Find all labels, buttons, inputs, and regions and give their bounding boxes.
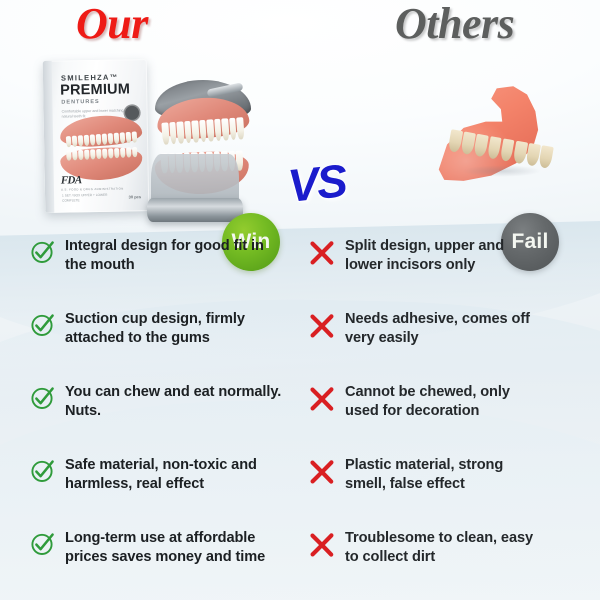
red-x-icon: [308, 240, 336, 266]
our-denture-model-image: [135, 72, 265, 222]
others-text: Plastic material, strong smell, false ef…: [345, 456, 545, 495]
red-x-icon: [308, 459, 336, 485]
box-title-label: PREMIUM: [60, 81, 130, 98]
others-text: Troublesome to clean, easy to collect di…: [345, 529, 545, 568]
others-cell: Plastic material, strong smell, false ef…: [300, 455, 600, 527]
others-cell: Split design, upper and lower incisors o…: [300, 236, 600, 308]
others-text: Split design, upper and lower incisors o…: [345, 237, 545, 276]
ours-text: Long-term use at affordable prices saves…: [65, 529, 287, 568]
box-spine: [43, 61, 55, 213]
fda-logo-icon: FDA: [61, 174, 82, 186]
heading-others: Others: [395, 0, 514, 49]
ours-cell: Suction cup design, firmly attached to t…: [0, 309, 300, 381]
check-circle-icon: [30, 239, 56, 265]
check-circle-icon: [30, 458, 56, 484]
others-text: Needs adhesive, comes off very easily: [345, 310, 545, 349]
comparison-row: You can chew and eat normally. Nuts. Can…: [0, 382, 600, 454]
others-cell: Cannot be chewed, only used for decorati…: [300, 382, 600, 454]
ours-cell: Integral design for good fit in the mout…: [0, 236, 300, 308]
versus-label: VS: [286, 157, 348, 209]
competitor-denture-image: [430, 60, 580, 200]
model-upper-teeth: [160, 117, 245, 145]
comparison-row: Integral design for good fit in the mout…: [0, 236, 600, 308]
others-text: Cannot be chewed, only used for decorati…: [345, 383, 545, 422]
ours-text: You can chew and eat normally. Nuts.: [65, 383, 287, 422]
red-x-icon: [308, 386, 336, 412]
product-box-image: SMILEHZA™ PREMIUM DENTURES Comfortable u…: [43, 59, 150, 213]
competitor-shadow: [446, 164, 558, 178]
comparison-infographic: Our Others SMILEHZA™ PREMIUM DENTURES Co…: [0, 0, 600, 600]
others-cell: Troublesome to clean, easy to collect di…: [300, 528, 600, 600]
ours-text: Integral design for good fit in the mout…: [65, 237, 287, 276]
check-circle-icon: [30, 531, 56, 557]
comparison-row: Long-term use at affordable prices saves…: [0, 528, 600, 600]
check-circle-icon: [30, 385, 56, 411]
comparison-row: Safe material, non-toxic and harmless, r…: [0, 455, 600, 527]
check-circle-icon: [30, 312, 56, 338]
ours-cell: You can chew and eat normally. Nuts.: [0, 382, 300, 454]
headings-row: Our Others: [0, 0, 600, 52]
comparison-rows: Integral design for good fit in the mout…: [0, 236, 600, 600]
red-x-icon: [308, 313, 336, 339]
model-stand-base: [147, 198, 243, 222]
ours-cell: Safe material, non-toxic and harmless, r…: [0, 455, 300, 527]
others-cell: Needs adhesive, comes off very easily: [300, 309, 600, 381]
hero-images: SMILEHZA™ PREMIUM DENTURES Comfortable u…: [0, 46, 600, 232]
box-code-text: 1 SET / BOX UPPER + LOWER COMPLETE: [62, 192, 122, 203]
ours-cell: Long-term use at affordable prices saves…: [0, 528, 300, 600]
box-subtitle-label: DENTURES: [61, 99, 99, 106]
ours-text: Safe material, non-toxic and harmless, r…: [65, 456, 287, 495]
fda-sublabel: U.S. FOOD & DRUG ADMINISTRATION: [61, 187, 124, 192]
heading-ours: Our: [76, 0, 148, 49]
comparison-row: Suction cup design, firmly attached to t…: [0, 309, 600, 381]
red-x-icon: [308, 532, 336, 558]
ours-text: Suction cup design, firmly attached to t…: [65, 310, 287, 349]
